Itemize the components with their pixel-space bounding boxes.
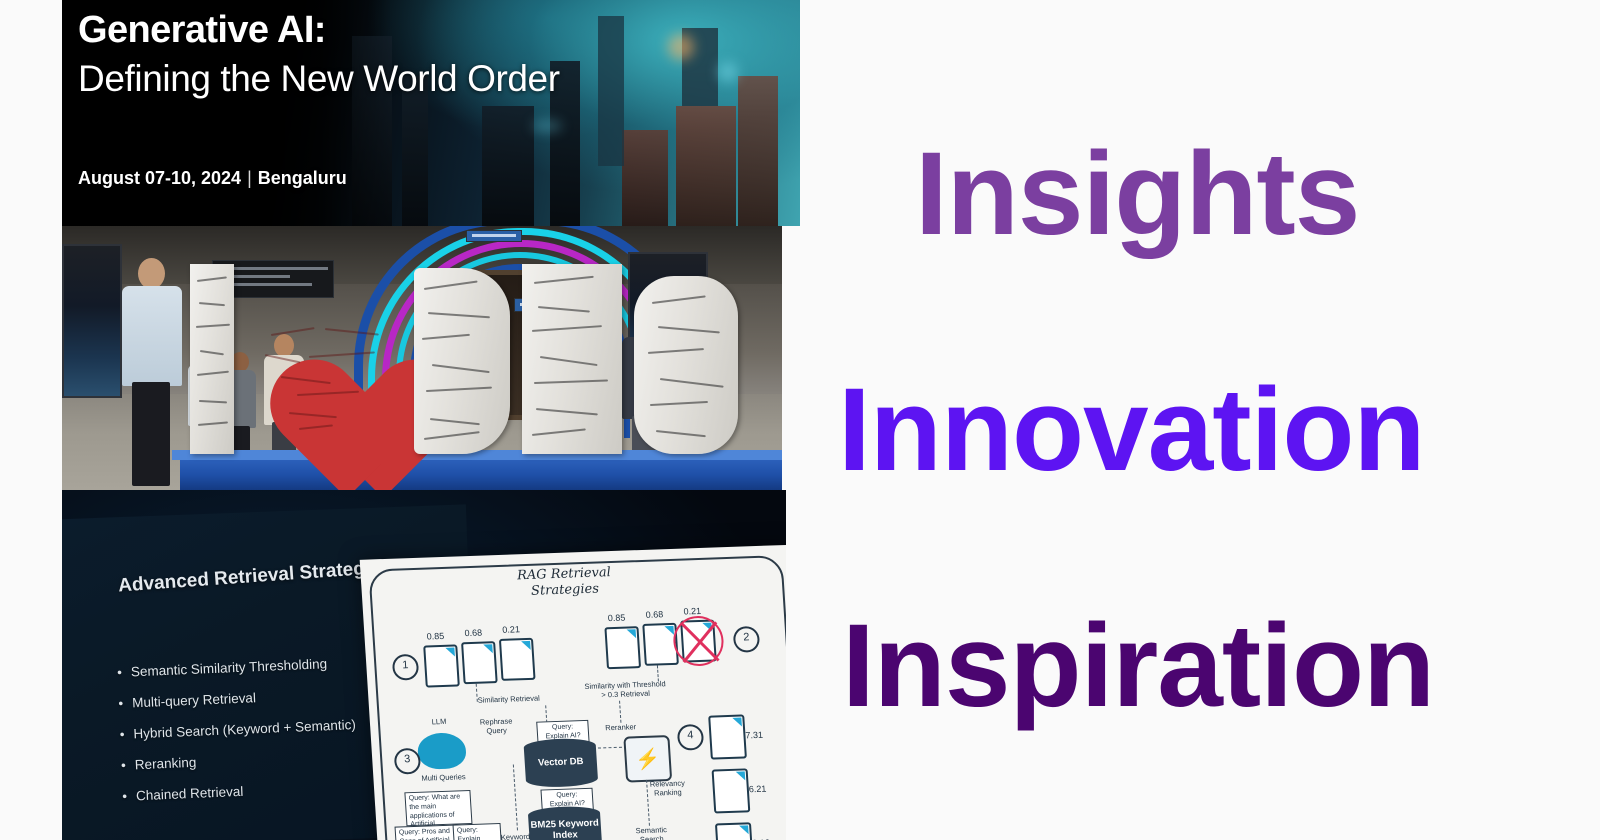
collage-canvas: Generative AI: Defining the New World Or… xyxy=(0,0,1600,840)
rag-diagram-panel: RAG Retrieval Strategies 1 0.85 0.68 0.2… xyxy=(360,545,786,840)
rag-label-keyword-search: Keyword Search xyxy=(495,832,536,840)
rag-doc-score: 0.68 xyxy=(645,609,663,620)
venue-poster-left xyxy=(62,244,122,398)
rag-relevancy-score: 6.21 xyxy=(749,784,767,795)
slide-bullet-item: Reranking xyxy=(121,748,358,773)
rag-label-threshold-retrieval: Similarity with Threshold > 0.3 Retrieva… xyxy=(584,679,667,701)
signage-letter-I xyxy=(190,264,234,454)
signature-scribbles xyxy=(638,280,734,450)
rag-label-llm: LLM xyxy=(422,717,457,728)
rag-relevancy-score: 7.31 xyxy=(745,730,763,741)
sign-text-line xyxy=(472,234,516,237)
signage-base-riser xyxy=(180,456,782,490)
bm25-index-cylinder: BM25 Keyword Index xyxy=(528,806,603,840)
signage-letter-D xyxy=(414,268,510,454)
keyword-insights: Insights xyxy=(915,126,1359,262)
person-legs xyxy=(132,382,170,486)
signage-letter-S xyxy=(634,276,738,454)
rag-diagram-title: RAG Retrieval Strategies xyxy=(489,564,641,602)
banner-title-line1: Generative AI: xyxy=(78,8,778,53)
signature-scribbles xyxy=(194,268,230,450)
slide-bullet-list: Semantic Similarity Thresholding Multi-q… xyxy=(117,655,359,820)
sign-text-line xyxy=(218,267,328,270)
rag-label-rephrase-query: Rephrase Query xyxy=(474,716,519,736)
skyline-building xyxy=(676,106,736,226)
rag-label-relevancy-ranking: Relevancy Ranking xyxy=(642,778,693,798)
presentation-slide-photo: Advanced Retrieval Strategies Semantic S… xyxy=(62,490,786,840)
person-head xyxy=(138,258,165,289)
rag-doc-score: 0.68 xyxy=(464,628,482,639)
signature-scribbles xyxy=(418,272,506,450)
venue-sign-board xyxy=(466,230,522,242)
banner-title-block: Generative AI: Defining the New World Or… xyxy=(78,8,778,101)
banner-meta-separator: | xyxy=(247,168,252,189)
skyline-glow xyxy=(532,120,562,132)
keyword-column: Insights Innovation Inspiration xyxy=(800,0,1600,840)
rag-document-icon xyxy=(423,644,460,687)
slide-bullet-item: Multi-query Retrieval xyxy=(118,686,355,711)
rag-ranked-document-icon xyxy=(712,768,751,813)
rag-doc-score: 0.21 xyxy=(502,624,520,635)
reranker-icon: ⚡ xyxy=(623,735,672,783)
rag-document-icon xyxy=(499,638,536,681)
rag-query-note: Query: What are the main applications of… xyxy=(404,790,472,826)
rag-document-icon xyxy=(461,641,498,684)
llm-brain-icon xyxy=(417,732,467,770)
rag-label-semantic-search: Semantic Search xyxy=(629,825,674,840)
person-torso xyxy=(122,286,182,386)
rag-label-reranker: Reranker xyxy=(600,722,641,733)
heart-signature-scribbles xyxy=(237,298,409,456)
skyline-building xyxy=(622,130,668,226)
rag-ranked-document-icon xyxy=(715,822,754,840)
vector-db-cylinder: Vector DB xyxy=(523,738,598,788)
banner-date: August 07-10, 2024 xyxy=(78,168,241,188)
skyline-building xyxy=(482,106,534,226)
banner-location: Bengaluru xyxy=(258,168,347,188)
i-love-dhs-photo xyxy=(62,226,782,490)
rag-doc-score: 0.85 xyxy=(426,631,444,642)
signature-scribbles xyxy=(526,268,618,450)
rag-doc-score: 0.85 xyxy=(608,613,626,624)
slide-bullet-item: Chained Retrieval xyxy=(122,779,359,804)
slide-bullet-item: Hybrid Search (Keyword + Semantic) xyxy=(119,717,356,742)
photo-column: Generative AI: Defining the New World Or… xyxy=(62,0,800,840)
rag-ranked-document-icon xyxy=(708,714,747,759)
keyword-inspiration: Inspiration xyxy=(842,598,1434,734)
banner-event-meta: August 07-10, 2024|Bengaluru xyxy=(78,168,347,189)
rag-label-multi-queries: Multi Queries xyxy=(415,772,472,783)
rag-document-icon xyxy=(604,626,641,669)
signage-letter-H xyxy=(522,264,622,454)
rag-doc-score: 0.21 xyxy=(683,606,701,617)
rag-query-note: Query: Pros and Cons of Artificial Intel… xyxy=(395,825,457,840)
keyword-innovation: Innovation xyxy=(838,362,1425,498)
signage-heart xyxy=(237,298,409,456)
conference-banner-image: Generative AI: Defining the New World Or… xyxy=(62,0,800,226)
banner-title-line2: Defining the New World Order xyxy=(78,57,778,101)
